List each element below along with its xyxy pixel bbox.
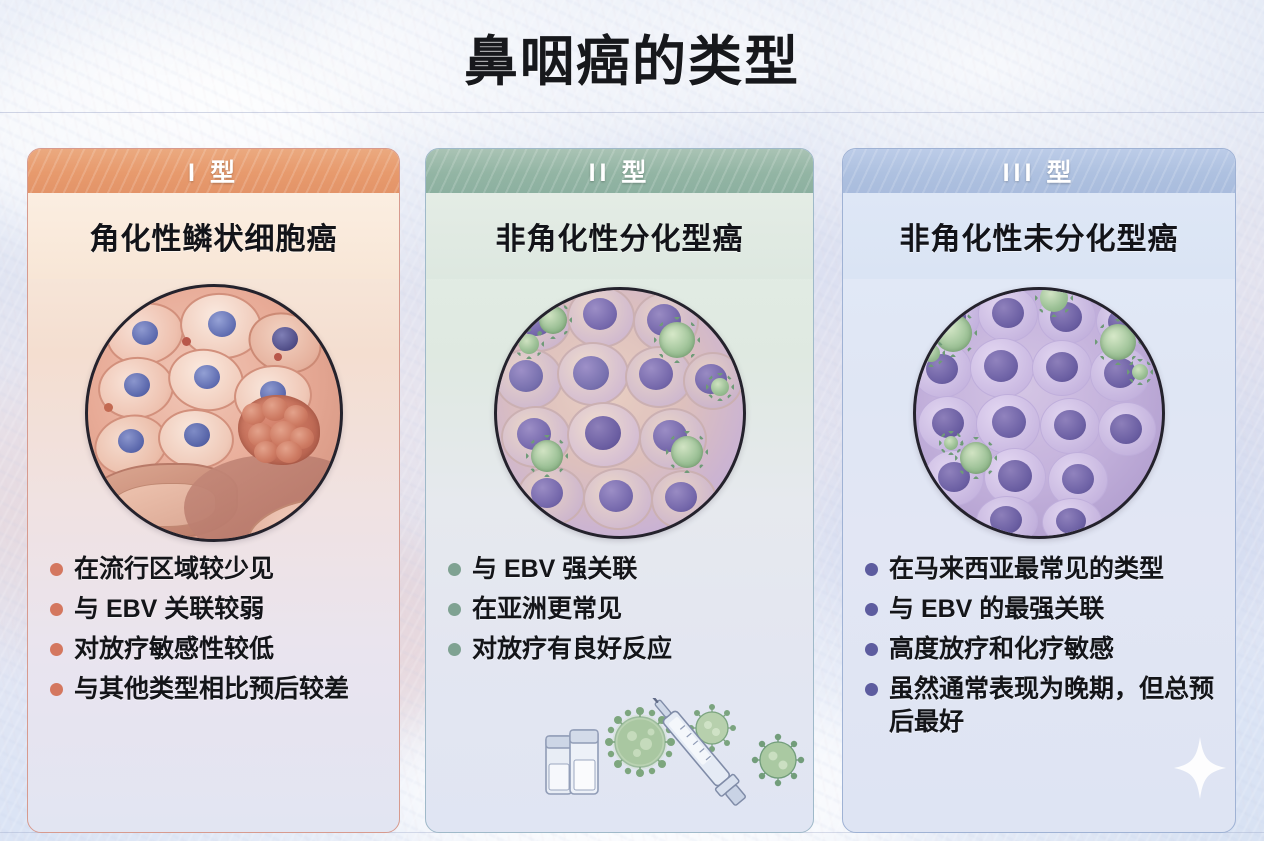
card-type-2[interactable]: II 型 非角化性分化型癌 <box>425 148 814 833</box>
list-item: 与 EBV 强关联 <box>426 553 813 586</box>
card-1-title: 角化性鳞状细胞癌 <box>28 193 399 279</box>
bullet-dot-icon <box>865 643 878 656</box>
bullet-text: 高度放疗和化疗敏感 <box>889 633 1114 666</box>
card-3-badge-header: III 型 <box>843 149 1235 193</box>
bullet-dot-icon <box>865 563 878 576</box>
bullet-dot-icon <box>448 603 461 616</box>
bullet-text: 对放疗有良好反应 <box>472 633 672 666</box>
cell-field <box>497 290 743 536</box>
ebv-virus-icon <box>944 436 958 450</box>
card-1-badge-label: I 型 <box>188 153 239 189</box>
keratin-pearl <box>238 395 320 465</box>
card-3-micrograph-wrap <box>843 279 1235 547</box>
bullet-dot-icon <box>50 603 63 616</box>
sparkle-icon <box>1174 737 1226 799</box>
bullet-text: 虽然通常表现为晚期，但总预后最好 <box>889 673 1221 739</box>
ebv-virus-icon <box>922 344 940 362</box>
card-type-3[interactable]: III 型 非角化性未分化型癌 <box>842 148 1236 833</box>
card-container: I 型 角化性鳞状细胞癌 <box>0 148 1264 833</box>
histology-circle-keratinizing-icon <box>85 284 343 542</box>
list-item: 在马来西亚最常见的类型 <box>843 553 1235 586</box>
list-item: 在亚洲更常见 <box>426 593 813 626</box>
card-2-title: 非角化性分化型癌 <box>426 193 813 279</box>
page-title: 鼻咽癌的类型 <box>0 0 1264 112</box>
ebv-virus-icon <box>659 322 695 358</box>
list-item: 对放疗有良好反应 <box>426 633 813 666</box>
ebv-virus-icon <box>1132 364 1148 380</box>
card-3-title: 非角化性未分化型癌 <box>843 193 1235 279</box>
card-3-badge-label: III 型 <box>1003 153 1076 189</box>
cell-field <box>88 287 340 539</box>
list-item: 对放疗敏感性较低 <box>28 633 399 666</box>
list-item: 虽然通常表现为晚期，但总预后最好 <box>843 673 1235 739</box>
vaccine-vials-syringe-virus-icon <box>544 698 806 816</box>
ebv-virus-icon <box>1040 287 1068 312</box>
ebv-virus-icon <box>531 440 563 472</box>
bullet-text: 对放疗敏感性较低 <box>74 633 274 666</box>
card-1-badge-header: I 型 <box>28 149 399 193</box>
bullet-text: 与其他类型相比预后较差 <box>74 673 349 706</box>
card-1-micrograph-wrap <box>28 279 399 547</box>
card-3-bullet-list: 在马来西亚最常见的类型 与 EBV 的最强关联 高度放疗和化疗敏感 虽然通常表现… <box>843 547 1235 739</box>
bullet-text: 在流行区域较少见 <box>74 553 274 586</box>
ebv-virus-icon <box>711 378 729 396</box>
bullet-dot-icon <box>448 643 461 656</box>
histology-circle-undifferentiated-icon <box>913 287 1165 539</box>
ebv-virus-icon <box>671 436 703 468</box>
bullet-dot-icon <box>50 643 63 656</box>
card-2-micrograph-wrap <box>426 279 813 547</box>
bullet-text: 与 EBV 关联较弱 <box>74 593 264 626</box>
ebv-virus-icon <box>960 442 992 474</box>
list-item: 与 EBV 的最强关联 <box>843 593 1235 626</box>
bullet-text: 在马来西亚最常见的类型 <box>889 553 1164 586</box>
bullet-text: 在亚洲更常见 <box>472 593 622 626</box>
histology-circle-nonkeratinizing-differentiated-icon <box>494 287 746 539</box>
card-1-bullet-list: 在流行区域较少见 与 EBV 关联较弱 对放疗敏感性较低 与其他类型相比预后较差 <box>28 547 399 706</box>
card-type-1[interactable]: I 型 角化性鳞状细胞癌 <box>27 148 400 833</box>
list-item: 与 EBV 关联较弱 <box>28 593 399 626</box>
bullet-dot-icon <box>865 683 878 696</box>
ebv-virus-icon <box>519 334 539 354</box>
card-2-badge-label: II 型 <box>589 153 651 189</box>
card-2-bullet-list: 与 EBV 强关联 在亚洲更常见 对放疗有良好反应 <box>426 547 813 666</box>
bullet-dot-icon <box>448 563 461 576</box>
list-item: 与其他类型相比预后较差 <box>28 673 399 706</box>
list-item: 高度放疗和化疗敏感 <box>843 633 1235 666</box>
bullet-dot-icon <box>50 563 63 576</box>
ebv-virus-icon <box>539 306 567 334</box>
list-item: 在流行区域较少见 <box>28 553 399 586</box>
bullet-dot-icon <box>865 603 878 616</box>
bullet-text: 与 EBV 的最强关联 <box>889 593 1104 626</box>
ebv-virus-icon <box>1100 324 1136 360</box>
bullet-dot-icon <box>50 683 63 696</box>
header-divider-line <box>0 112 1264 113</box>
bullet-text: 与 EBV 强关联 <box>472 553 637 586</box>
card-2-badge-header: II 型 <box>426 149 813 193</box>
cell-field <box>916 290 1162 536</box>
